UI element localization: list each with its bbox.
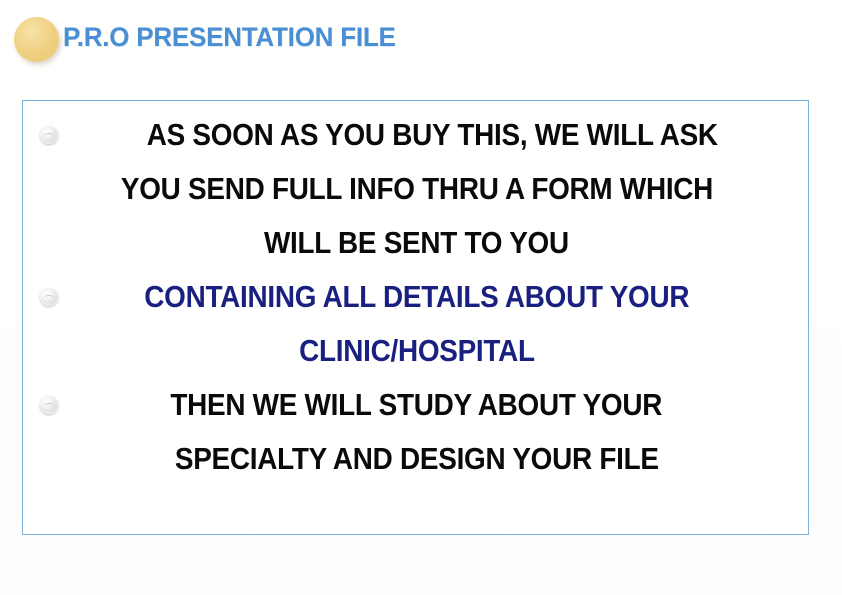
silver-sphere-bullet-icon: [40, 288, 58, 306]
content-line-text: AS SOON AS YOU BUY THIS, WE WILL ASK: [147, 108, 718, 162]
content-line-text: THEN WE WILL STUDY ABOUT YOUR: [171, 378, 663, 432]
content-line: CONTAINING ALL DETAILS ABOUT YOUR: [23, 270, 810, 324]
page-title: P.R.O PRESENTATION FILE: [63, 22, 773, 53]
content-line-text: CLINIC/HOSPITAL: [299, 324, 535, 378]
silver-sphere-bullet-icon: [40, 126, 58, 144]
content-box: AS SOON AS YOU BUY THIS, WE WILL ASK YOU…: [22, 100, 809, 535]
presentation-slide: P.R.O PRESENTATION FILE AS SOON AS YOU B…: [0, 0, 842, 595]
content-line-text: YOU SEND FULL INFO THRU A FORM WHICH: [120, 162, 712, 216]
content-line: AS SOON AS YOU BUY THIS, WE WILL ASK: [23, 108, 810, 162]
content-line: CLINIC/HOSPITAL: [23, 324, 810, 378]
content-line-text: CONTAINING ALL DETAILS ABOUT YOUR: [144, 270, 689, 324]
content-line: SPECIALTY AND DESIGN YOUR FILE: [23, 432, 810, 486]
yellow-circle-icon: [14, 17, 59, 62]
slide-header: P.R.O PRESENTATION FILE: [0, 0, 842, 82]
content-line-text: SPECIALTY AND DESIGN YOUR FILE: [175, 432, 659, 486]
content-line: YOU SEND FULL INFO THRU A FORM WHICH: [23, 162, 810, 216]
content-line: THEN WE WILL STUDY ABOUT YOUR: [23, 378, 810, 432]
content-line-text: WILL BE SENT TO YOU: [264, 216, 569, 270]
content-line: WILL BE SENT TO YOU: [23, 216, 810, 270]
silver-sphere-bullet-icon: [40, 396, 58, 414]
content-line-list: AS SOON AS YOU BUY THIS, WE WILL ASK YOU…: [23, 108, 810, 486]
